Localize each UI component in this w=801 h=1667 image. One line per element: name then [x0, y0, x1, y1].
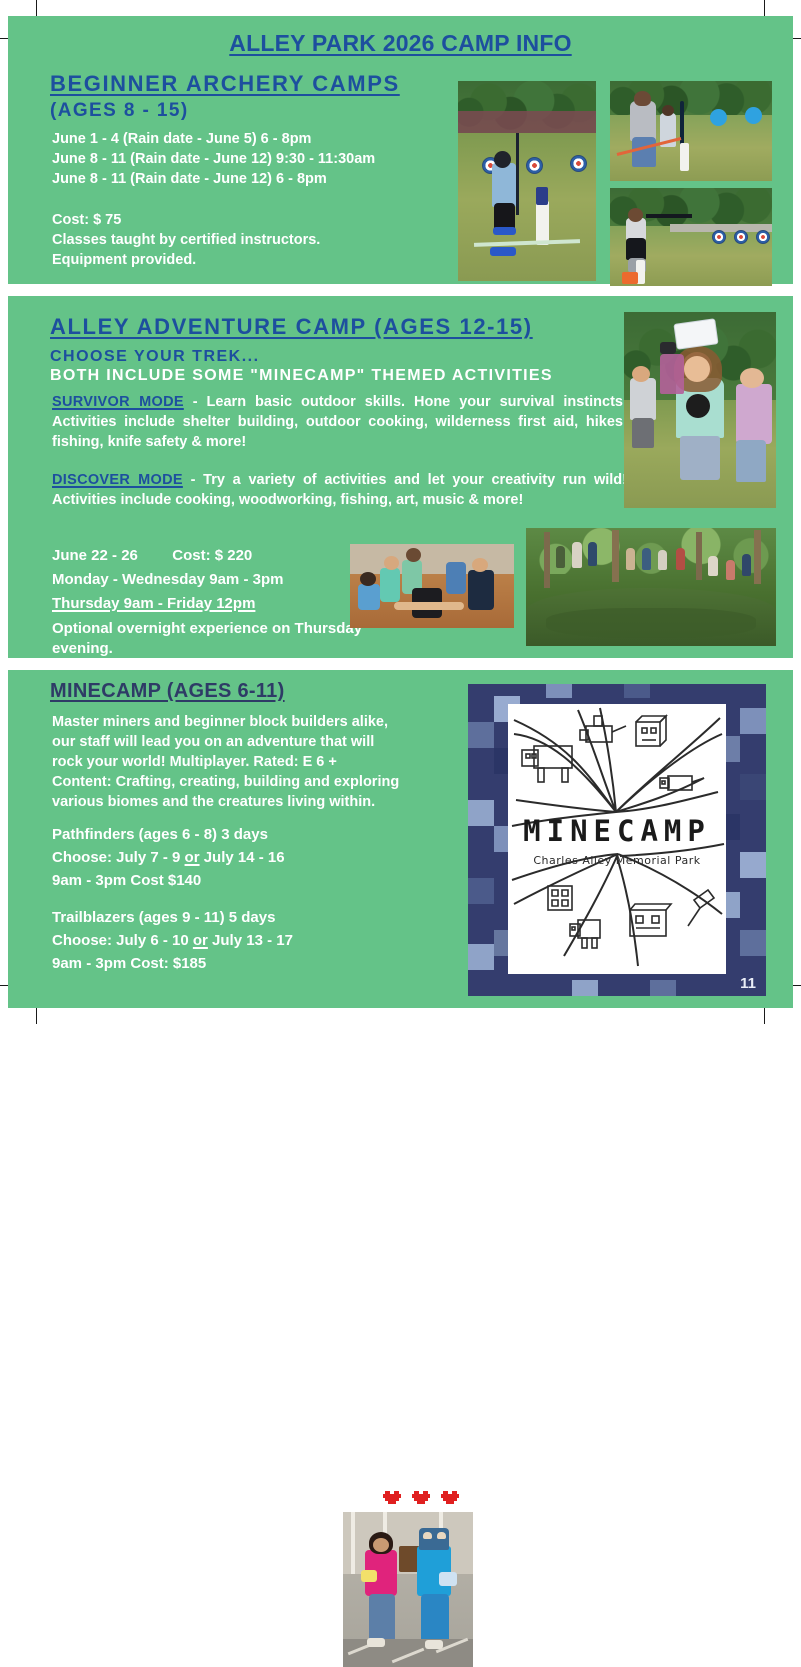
page-number: 11: [740, 975, 756, 992]
archery-instructor-photo: [610, 81, 772, 181]
archery-cost: Cost: $ 75: [52, 210, 452, 230]
trailblazers-choose-suffix: July 13 - 17: [208, 932, 293, 949]
pixel-heart-icon-2: [412, 1488, 430, 1504]
archery-session-2: June 8 - 11 (Rain date - June 12) 9:30 -…: [52, 149, 452, 169]
pathfinders-or: or: [185, 849, 200, 866]
minecamp-desc-1: Master miners and beginner block builder…: [52, 712, 472, 732]
minecamp-poster: MINECAMP Charles Alley Memorial Park 11: [468, 684, 766, 996]
poster-subtitle: Charles Alley Memorial Park: [508, 854, 726, 867]
minecamp-heading: MINECAMP (AGES 6-11): [50, 680, 470, 703]
minecamp-desc-4: Content: Crafting, creating, building an…: [52, 772, 472, 792]
archery-range-photo: [610, 188, 772, 286]
adventure-section: ALLEY ADVENTURE CAMP (AGES 12-15) CHOOSE…: [8, 296, 793, 658]
discover-mode-label: DISCOVER MODE: [52, 472, 183, 488]
archery-section: ALLEY PARK 2026 CAMP INFO BEGINNER ARCHE…: [8, 16, 793, 284]
campers-on-cliff-photo: [526, 528, 776, 646]
pathfinders-title: Pathfinders (ages 6 - 8) 3 days: [52, 825, 382, 845]
adventure-subhead-2: BOTH INCLUDE SOME "MINECAMP" THEMED ACTI…: [50, 367, 610, 385]
archery-session-1: June 1 - 4 (Rain date - June 5) 6 - 8pm: [52, 129, 452, 149]
adventure-overnight-note: Optional overnight experience on Thursda…: [52, 619, 382, 659]
trailblazers-time-cost: 9am - 3pm Cost: $185: [52, 954, 382, 974]
page-title: ALLEY PARK 2026 CAMP INFO: [8, 16, 793, 57]
pathfinders-choose-suffix: July 14 - 16: [200, 849, 285, 866]
minecamp-section: MINECAMP (AGES 6-11) Master miners and b…: [8, 670, 793, 1008]
pathfinders-choose-prefix: Choose: July 7 - 9: [52, 849, 185, 866]
adventure-subhead-1: CHOOSE YOUR TREK...: [50, 348, 610, 366]
trailblazers-choose-prefix: Choose: July 6 - 10: [52, 932, 193, 949]
archery-session-3: June 8 - 11 (Rain date - June 12) 6 - 8p…: [52, 169, 452, 189]
flyer-page: ALLEY PARK 2026 CAMP INFO BEGINNER ARCHE…: [0, 0, 801, 1024]
archery-ages: (AGES 8 - 15): [50, 100, 450, 122]
adventure-schedule-1: Monday - Wednesday 9am - 3pm: [52, 570, 382, 590]
pixel-heart-icon-3: [441, 1488, 459, 1504]
poster-title: MINECAMP: [508, 814, 726, 848]
adventure-schedule-2: Thursday 9am - Friday 12pm: [52, 594, 255, 614]
archery-boy-shooting-photo: [458, 81, 596, 281]
minecraft-costume-photo: [343, 1512, 473, 1667]
campers-stretching-photo: [350, 544, 514, 628]
pixel-heart-icon-1: [383, 1488, 401, 1504]
survivor-mode-label: SURVIVOR MODE: [52, 394, 184, 410]
pathfinders-time-cost: 9am - 3pm Cost $140: [52, 871, 382, 891]
adventure-heading: ALLEY ADVENTURE CAMP (AGES 12-15): [50, 314, 610, 340]
minecamp-desc-2: our staff will lead you on an adventure …: [52, 732, 472, 752]
adventure-dates: June 22 - 26: [52, 547, 138, 564]
minecamp-desc-3: rock your world! Multiplayer. Rated: E 6…: [52, 752, 472, 772]
trailblazers-title: Trailblazers (ages 9 - 11) 5 days: [52, 908, 382, 928]
archery-heading: BEGINNER ARCHERY CAMPS: [50, 71, 450, 97]
archery-note-1: Classes taught by certified instructors.: [52, 230, 452, 250]
adventure-cost: Cost: $ 220: [172, 547, 252, 564]
minecamp-desc-5: various biomes and the creatures living …: [52, 792, 472, 812]
trailblazers-or: or: [193, 932, 208, 949]
camper-cheering-photo: [624, 312, 776, 508]
archery-note-2: Equipment provided.: [52, 250, 452, 270]
